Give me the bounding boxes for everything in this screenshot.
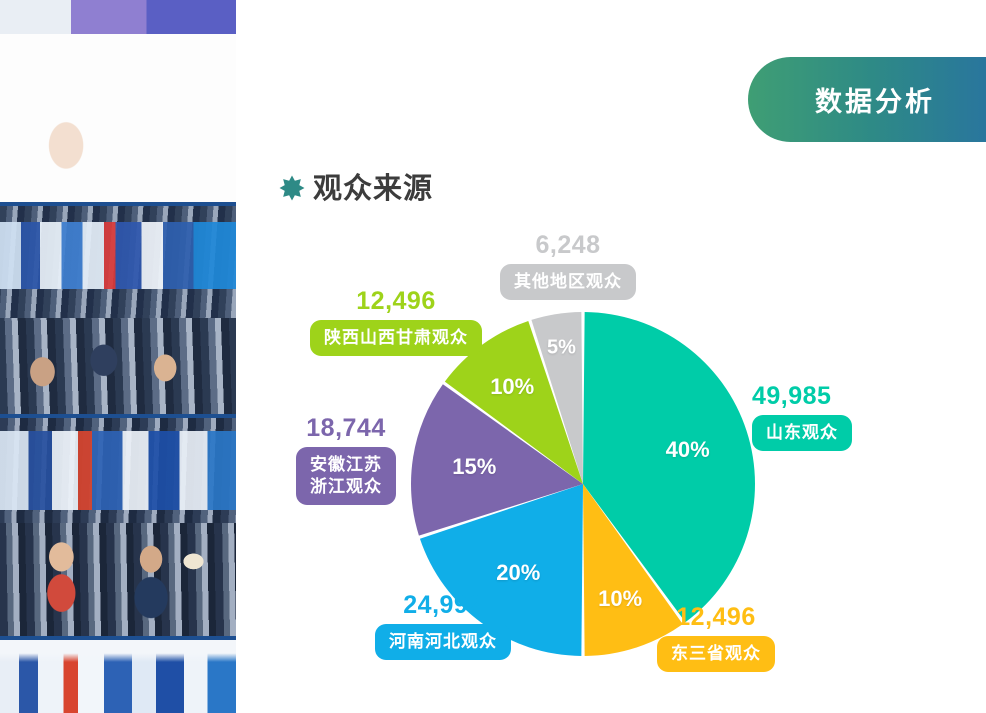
- callout-other-regions-value: 6,248: [535, 232, 600, 258]
- header-banner-title: 数据分析: [799, 80, 935, 119]
- callout-northeast-value: 12,496: [676, 604, 755, 630]
- callout-shandong-value: 49,985: [752, 383, 852, 409]
- callout-anhui-jiangsu-zhejiang: 18,744安徽江苏 浙江观众: [296, 415, 396, 505]
- pie-slice-percent-label: 15%: [452, 454, 496, 480]
- photo-exhibition-entrance-crowd: [0, 0, 236, 202]
- pie-slice-percent-label: 10%: [490, 374, 534, 400]
- photo-column: [0, 0, 236, 713]
- callout-shandong: 49,985山东观众: [752, 383, 852, 451]
- callout-shaanxi-shanxi-gansu: 12,496陕西山西甘肃观众: [310, 288, 482, 356]
- callout-northeast: 12,496东三省观众: [657, 604, 775, 672]
- callout-henan-hebei-value: 24,992: [403, 592, 482, 618]
- pie-slice-percent-label: 20%: [496, 560, 540, 586]
- callout-other-regions: 6,248其他地区观众: [500, 232, 636, 300]
- section-title: 观众来源: [279, 165, 433, 207]
- slide-page: 数据分析 观众来源 40%10%20%15%10%5% 49,985山东观众12…: [0, 0, 986, 713]
- callout-anhui-jiangsu-zhejiang-value: 18,744: [306, 415, 385, 441]
- crowd-texture: [0, 206, 236, 414]
- callout-other-regions-pill[interactable]: 其他地区观众: [500, 264, 636, 300]
- callout-henan-hebei: 24,992河南河北观众: [375, 592, 511, 660]
- photo-exhibition-hall-aisle: [0, 206, 236, 414]
- header-banner: 数据分析: [748, 57, 986, 142]
- photo-booth-signage: [0, 640, 236, 713]
- callout-henan-hebei-pill[interactable]: 河南河北观众: [375, 624, 511, 660]
- section-title-text: 观众来源: [313, 165, 433, 207]
- pie-slice-percent-label: 5%: [547, 337, 576, 360]
- callout-shandong-pill[interactable]: 山东观众: [752, 415, 852, 451]
- callout-shaanxi-shanxi-gansu-value: 12,496: [356, 288, 435, 314]
- crowd-texture: [0, 418, 236, 636]
- callout-anhui-jiangsu-zhejiang-pill[interactable]: 安徽江苏 浙江观众: [296, 447, 396, 505]
- eight-point-star-icon: [279, 171, 305, 201]
- booth-texture: [0, 640, 236, 713]
- pie-slice-percent-label: 40%: [666, 437, 710, 463]
- callout-shaanxi-shanxi-gansu-pill[interactable]: 陕西山西甘肃观众: [310, 320, 482, 356]
- photo-visitors-at-booths: [0, 418, 236, 636]
- callout-northeast-pill[interactable]: 东三省观众: [657, 636, 775, 672]
- crowd-texture: [0, 0, 236, 202]
- pie-slice-percent-label: 10%: [598, 586, 642, 612]
